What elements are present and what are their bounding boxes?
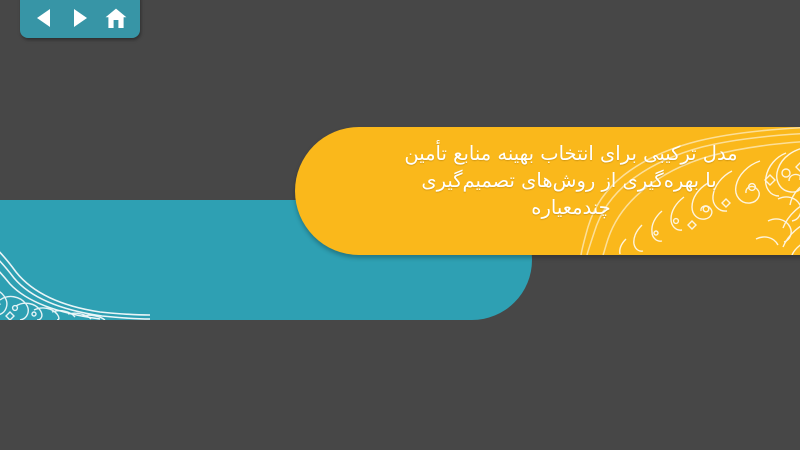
presentation-slide: مدل ترکیبی برای انتخاب بهینه منابع تأمین… (0, 0, 800, 450)
home-button[interactable] (101, 4, 131, 32)
title-line-1: مدل ترکیبی برای انتخاب بهینه منابع تأمین (404, 140, 737, 167)
arabesque-corner-ornament-teal (0, 200, 150, 320)
title-line-2: با بهره‌گیری از روش‌های تصمیم‌گیری (421, 167, 716, 194)
previous-slide-button[interactable] (29, 4, 59, 32)
slide-navigation-bar (20, 0, 140, 38)
next-slide-button[interactable] (65, 4, 95, 32)
triangle-left-icon (35, 8, 53, 28)
triangle-right-icon (71, 8, 89, 28)
title-panel: مدل ترکیبی برای انتخاب بهینه منابع تأمین… (295, 127, 800, 255)
home-icon (105, 8, 127, 29)
title-line-3: چندمعیاره (531, 194, 611, 221)
slide-title: مدل ترکیبی برای انتخاب بهینه منابع تأمین… (295, 127, 800, 255)
